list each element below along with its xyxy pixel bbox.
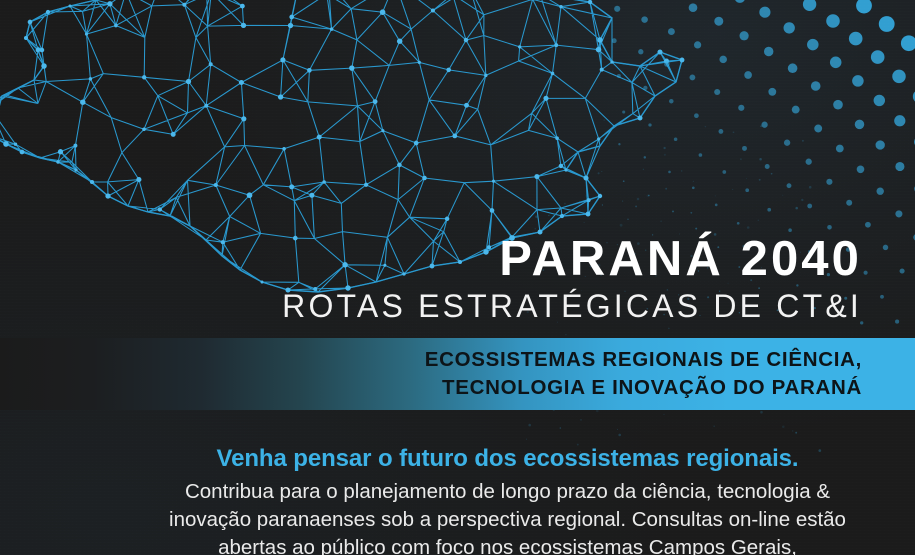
page-title: PARANÁ 2040 — [42, 234, 862, 284]
program-banner: ECOSSISTEMAS REGIONAIS DE CIÊNCIA, TECNO… — [0, 338, 915, 410]
program-banner-text: ECOSSISTEMAS REGIONAIS DE CIÊNCIA, TECNO… — [425, 346, 915, 402]
title-block: PARANÁ 2040 ROTAS ESTRATÉGICAS DE CT&I — [42, 234, 862, 326]
banner-line-1: ECOSSISTEMAS REGIONAIS DE CIÊNCIA, — [425, 346, 862, 374]
cta-heading: Venha pensar o futuro dos ecossistemas r… — [150, 443, 865, 475]
page-subtitle: ROTAS ESTRATÉGICAS DE CT&I — [42, 286, 862, 326]
paragraph-line: inovação paranaenses sob a perspectiva r… — [150, 506, 865, 534]
paragraph-line: abertas ao público com foco nos ecossist… — [150, 534, 865, 555]
poster-canvas: PARANÁ 2040 ROTAS ESTRATÉGICAS DE CT&I E… — [0, 0, 915, 555]
banner-line-2: TECNOLOGIA E INOVAÇÃO DO PARANÁ — [425, 374, 862, 402]
body-paragraph: Contribua para o planejamento de longo p… — [150, 478, 865, 555]
copy-block: Venha pensar o futuro dos ecossistemas r… — [150, 443, 865, 555]
paragraph-line: Contribua para o planejamento de longo p… — [150, 478, 865, 506]
